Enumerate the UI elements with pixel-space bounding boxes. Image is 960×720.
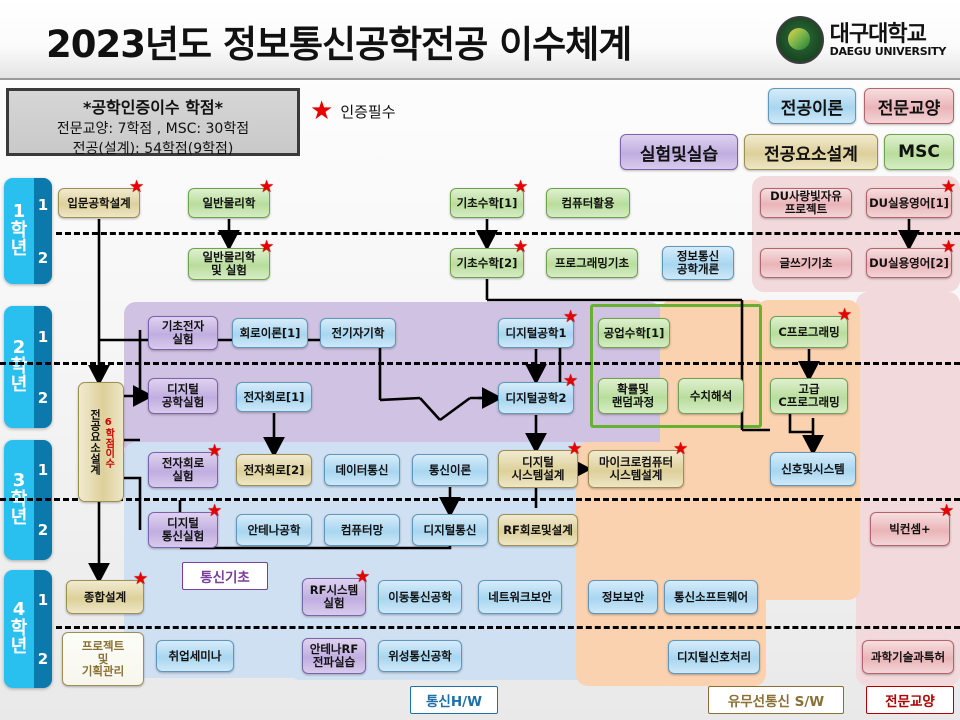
course-box-c32[interactable]: 디지털 통신실험 bbox=[148, 512, 218, 548]
course-box-c19[interactable]: 디지털 공학실험 bbox=[148, 378, 218, 414]
course-box-c31[interactable]: 신호및시스템 bbox=[770, 452, 856, 486]
star-icon: ★ bbox=[310, 98, 333, 124]
track-label-hw: 통신H/W bbox=[410, 686, 498, 714]
legend-msc: MSC bbox=[884, 134, 954, 170]
course-box-c22[interactable]: 확률및 랜덤과정 bbox=[598, 378, 668, 414]
course-box-c15[interactable]: 전기자기학 bbox=[320, 318, 396, 348]
course-box-c39[interactable]: RF시스템 실험 bbox=[302, 578, 366, 616]
course-box-c38[interactable]: 종합설계 bbox=[66, 580, 144, 614]
course-box-c01[interactable]: 입문공학설계 bbox=[58, 188, 140, 218]
course-box-c08[interactable]: 기초수학[2] bbox=[450, 248, 524, 278]
course-box-c20[interactable]: 전자회로[1] bbox=[236, 382, 312, 412]
design-core-requirement-box: 전공요소설계 6학점이수 bbox=[78, 382, 124, 502]
semester-divider-3 bbox=[0, 498, 960, 501]
course-box-c41[interactable]: 네트워크보안 bbox=[478, 580, 562, 614]
year-block-1: 1학년 12 bbox=[4, 178, 52, 284]
course-box-c49[interactable]: 과학기술과특허 bbox=[862, 640, 954, 674]
credit-note-line3: 전공(설계): 54학점(9학점) bbox=[9, 138, 297, 158]
course-box-c03[interactable]: 기초수학[1] bbox=[450, 188, 524, 218]
year-block-2: 2학년 12 bbox=[4, 306, 52, 428]
logo-name-ko: 대구대학교 bbox=[830, 24, 946, 46]
course-box-c47[interactable]: 위성통신공학 bbox=[378, 640, 462, 672]
course-box-c37[interactable]: 빅컨셈+ bbox=[870, 512, 950, 546]
university-logo: 대구대학교 DAEGU UNIVERSITY bbox=[776, 16, 946, 64]
semester-divider-1 bbox=[56, 232, 960, 235]
course-box-c09[interactable]: 프로그래밍기초 bbox=[546, 248, 638, 278]
credit-note-line2: 전문교양: 7학점 , MSC: 30학점 bbox=[9, 118, 297, 138]
course-box-c27[interactable]: 데이터통신 bbox=[324, 454, 400, 486]
credit-note-line1: *공학인증이수 학점* bbox=[9, 94, 297, 118]
course-box-c07[interactable]: 일반물리학 및 실험 bbox=[188, 248, 270, 280]
logo-name-en: DAEGU UNIVERSITY bbox=[830, 46, 946, 57]
year-1-semesters: 12 bbox=[34, 178, 52, 284]
course-box-c29[interactable]: 디지털 시스템설계 bbox=[498, 450, 578, 488]
course-box-c45[interactable]: 취업세미나 bbox=[156, 640, 234, 672]
page-title: 2023년도 정보통신공학전공 이수체계 bbox=[46, 14, 631, 68]
course-box-c24[interactable]: 고급 C프로그래밍 bbox=[770, 378, 848, 414]
legend-design: 전공요소설계 bbox=[744, 134, 878, 170]
course-box-c26[interactable]: 전자회로[2] bbox=[236, 454, 312, 486]
course-box-c11[interactable]: 글쓰기기초 bbox=[760, 248, 852, 278]
course-box-c36[interactable]: RF회로및설계 bbox=[498, 514, 578, 546]
course-box-c18[interactable]: C프로그래밍 bbox=[770, 316, 848, 348]
year-4-semesters: 12 bbox=[34, 570, 52, 688]
course-box-c30[interactable]: 마이크로컴퓨터 시스템설계 bbox=[588, 450, 684, 488]
course-box-c33[interactable]: 안테나공학 bbox=[236, 514, 312, 546]
track-label-general: 전문교양 bbox=[866, 686, 954, 714]
course-box-c46[interactable]: 안테나RF 전파실습 bbox=[302, 638, 366, 674]
course-box-c17[interactable]: 공업수학[1] bbox=[598, 318, 670, 348]
year-2-semesters: 12 bbox=[34, 306, 52, 428]
semester-divider-2 bbox=[0, 362, 960, 365]
course-box-c02[interactable]: 일반물리학 bbox=[188, 188, 270, 218]
course-box-c43[interactable]: 통신소프트웨어 bbox=[664, 580, 758, 614]
year-label-2: 2학년 bbox=[4, 306, 34, 428]
course-box-c04[interactable]: 컴퓨터활용 bbox=[546, 188, 630, 218]
course-box-c16[interactable]: 디지털공학1 bbox=[498, 318, 574, 348]
year-block-4: 4학년 12 bbox=[4, 570, 52, 688]
star-legend: ★ 인증필수 bbox=[310, 98, 396, 124]
course-box-c06[interactable]: DU실용영어[1] bbox=[866, 188, 952, 218]
course-box-c48[interactable]: 디지털신호처리 bbox=[668, 640, 760, 674]
legend-general: 전문교양 bbox=[864, 88, 954, 124]
track-label-sw: 유무선통신 S/W bbox=[708, 686, 844, 714]
course-box-c05[interactable]: DU사랑빛자유 프로젝트 bbox=[760, 188, 852, 218]
course-box-c28[interactable]: 통신이론 bbox=[412, 454, 488, 486]
semester-divider-4 bbox=[56, 626, 960, 629]
year-label-4: 4학년 bbox=[4, 570, 34, 688]
course-box-c13[interactable]: 기초전자 실험 bbox=[148, 316, 218, 350]
design-core-note: 6학점이수 bbox=[103, 417, 113, 468]
course-box-c14[interactable]: 회로이론[1] bbox=[232, 318, 308, 348]
legend-theory: 전공이론 bbox=[768, 88, 856, 124]
course-box-c10[interactable]: 정보통신 공학개론 bbox=[662, 246, 734, 280]
daegu-university-seal-icon bbox=[776, 16, 824, 64]
course-box-c23[interactable]: 수치해석 bbox=[678, 378, 744, 414]
course-box-c35[interactable]: 디지털통신 bbox=[412, 514, 488, 546]
star-legend-label: 인증필수 bbox=[340, 101, 395, 122]
design-core-label: 전공요소설계 bbox=[89, 409, 100, 475]
course-box-c40[interactable]: 이동통신공학 bbox=[378, 580, 462, 614]
course-box-c34[interactable]: 컴퓨터망 bbox=[324, 514, 400, 546]
track-label-basic: 통신기초 bbox=[182, 562, 268, 590]
legend-lab: 실험및실습 bbox=[620, 134, 738, 170]
course-box-c21[interactable]: 디지털공학2 bbox=[498, 382, 574, 414]
credit-requirements-box: *공학인증이수 학점* 전문교양: 7학점 , MSC: 30학점 전공(설계)… bbox=[6, 88, 300, 156]
course-box-c44[interactable]: 프로젝트 및 기획관리 bbox=[62, 632, 144, 686]
course-box-c42[interactable]: 정보보안 bbox=[588, 580, 658, 614]
course-box-c12[interactable]: DU실용영어[2] bbox=[866, 248, 952, 278]
year-label-1: 1학년 bbox=[4, 178, 34, 284]
page-header: 2023년도 정보통신공학전공 이수체계 대구대학교 DAEGU UNIVERS… bbox=[0, 0, 960, 80]
course-box-c25[interactable]: 전자회로 실험 bbox=[148, 452, 218, 488]
